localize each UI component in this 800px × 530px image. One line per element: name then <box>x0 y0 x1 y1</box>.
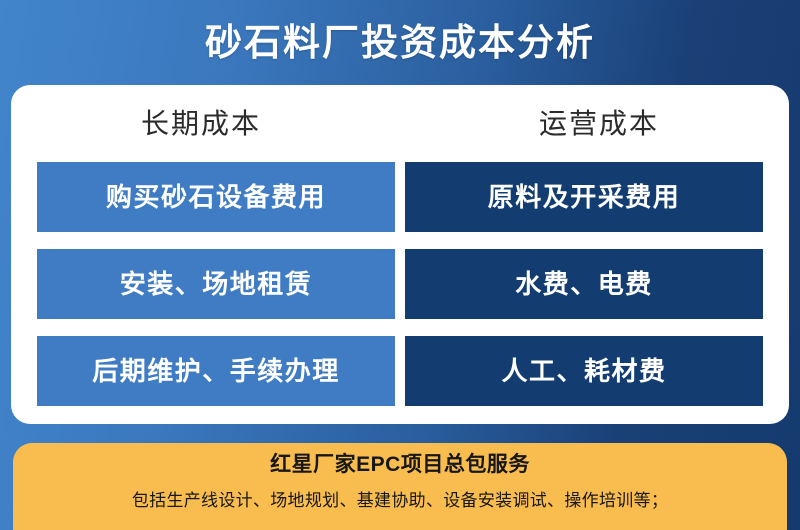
column-long-term: 购买砂石设备费用 安装、场地租赁 后期维护、手续办理 <box>37 162 395 406</box>
column-header-long-term-label: 长期成本 <box>141 110 261 138</box>
column-header-operating-label: 运营成本 <box>539 110 659 138</box>
column-operating: 原料及开采费用 水费、电费 人工、耗材费 <box>405 162 763 406</box>
infographic-poster: 砂石料厂投资成本分析 长期成本 运营成本 购买砂石设备费用 安装、场地租赁 后期… <box>0 0 800 530</box>
cost-item-label: 原料及开采费用 <box>488 184 681 210</box>
cost-item-operating-1: 原料及开采费用 <box>405 162 763 232</box>
column-header-operating: 运营成本 <box>405 85 789 162</box>
cost-item-label: 安装、场地租赁 <box>120 271 313 297</box>
service-banner-title: 红星厂家EPC项目总包服务 <box>270 454 530 475</box>
cost-item-long-term-1: 购买砂石设备费用 <box>37 162 395 232</box>
poster-header: 砂石料厂投资成本分析 <box>0 0 800 84</box>
cost-item-operating-2: 水费、电费 <box>405 249 763 319</box>
cost-item-label: 水费、电费 <box>515 271 653 297</box>
cost-item-label: 购买砂石设备费用 <box>106 184 326 210</box>
cost-item-long-term-2: 安装、场地租赁 <box>37 249 395 319</box>
column-headers: 长期成本 运营成本 <box>11 85 789 162</box>
column-header-long-term: 长期成本 <box>11 85 405 162</box>
service-banner: 红星厂家EPC项目总包服务 包括生产线设计、场地规划、基建协助、设备安装调试、操… <box>13 443 787 530</box>
cost-item-operating-3: 人工、耗材费 <box>405 336 763 406</box>
page-title: 砂石料厂投资成本分析 <box>205 24 595 61</box>
cost-columns: 购买砂石设备费用 安装、场地租赁 后期维护、手续办理 原料及开采费用 水费、电费… <box>37 162 763 406</box>
cost-item-label: 人工、耗材费 <box>501 358 666 384</box>
cost-item-label: 后期维护、手续办理 <box>92 358 340 384</box>
cost-item-long-term-3: 后期维护、手续办理 <box>37 336 395 406</box>
cost-comparison-card: 长期成本 运营成本 购买砂石设备费用 安装、场地租赁 后期维护、手续办理 <box>11 85 789 424</box>
service-banner-subtitle: 包括生产线设计、场地规划、基建协助、设备安装调试、操作培训等； <box>132 492 668 509</box>
